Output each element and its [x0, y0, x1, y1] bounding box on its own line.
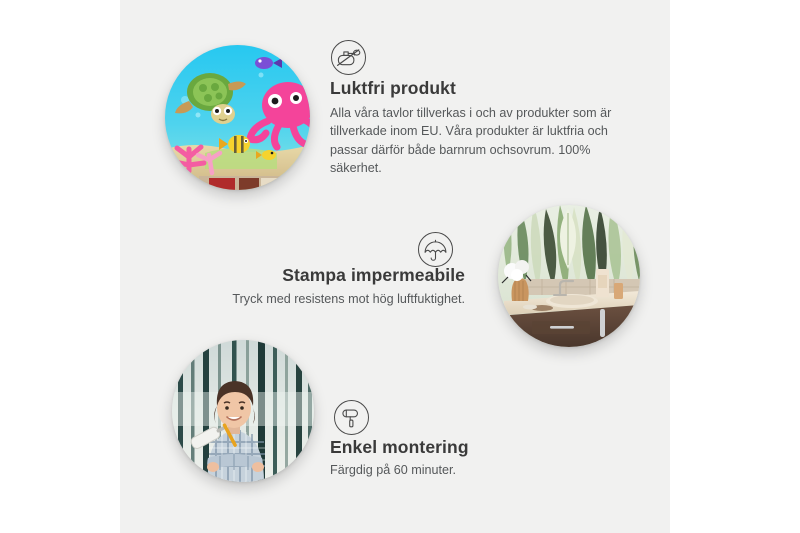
no-fragrance-icon — [331, 40, 366, 75]
feature-title: Luktfri produkt — [330, 78, 620, 99]
umbrella-icon — [418, 232, 453, 267]
bathroom-tropical-wallpaper-photo — [498, 205, 640, 347]
feature-text-luktfri-produkt: Luktfri produkt Alla våra tavlor tillver… — [330, 78, 620, 177]
feature-text-stampa-impermeabile: Stampa impermeabile Tryck med resistens … — [175, 265, 465, 308]
feature-body: Tryck med resistens mot hög luftfuktighe… — [175, 290, 465, 308]
feature-body: Färgdig på 60 minuter. — [330, 461, 610, 479]
feature-body: Alla våra tavlor tillverkas i och av pro… — [330, 104, 620, 177]
feature-text-enkel-montering: Enkel montering Färgdig på 60 minuter. — [330, 437, 610, 479]
woman-with-paint-roller-forest-photo — [172, 340, 314, 482]
feature-title: Enkel montering — [330, 437, 610, 458]
feature-title: Stampa impermeabile — [175, 265, 465, 286]
underwater-kids-mural-photo — [165, 45, 310, 190]
paint-roller-icon — [334, 400, 369, 435]
promo-graphic: Luktfri produkt Alla våra tavlor tillver… — [0, 0, 800, 533]
